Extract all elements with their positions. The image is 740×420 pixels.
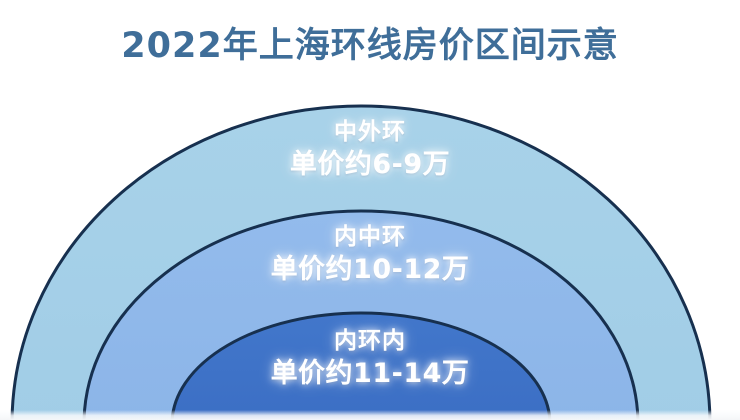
title-bar: 2022年上海环线房价区间示意 (0, 0, 740, 92)
price-ring-infographic: 2022年上海环线房价区间示意 (0, 0, 740, 420)
page-title: 2022年上海环线房价区间示意 (121, 29, 618, 64)
